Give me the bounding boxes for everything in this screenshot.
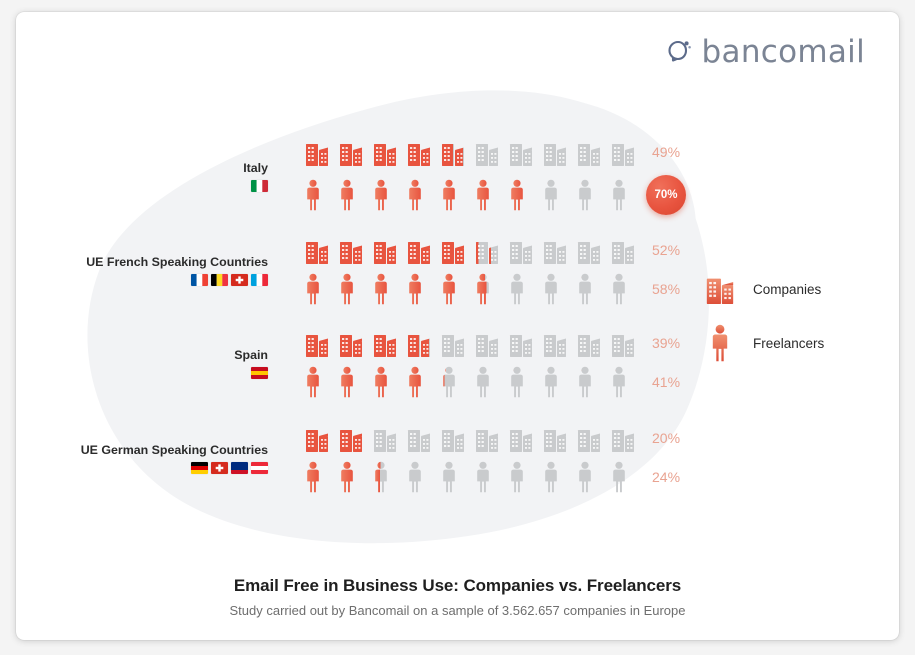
company-icon-slot [610, 235, 636, 265]
legend-item: Freelancers [703, 316, 871, 370]
company-building-icon [576, 328, 602, 358]
data-row: UE German Speaking Countries [16, 412, 899, 504]
company-building-icon [338, 235, 364, 265]
freelancer-icon-slot [474, 273, 492, 305]
freelancer-person-icon [474, 179, 492, 211]
freelancer-icon-slot [542, 273, 560, 305]
company-building-icon [304, 328, 330, 358]
company-building-icon [372, 328, 398, 358]
company-icon-slot [406, 423, 432, 453]
company-building-icon [304, 423, 330, 453]
companies-icon-line: 20% [304, 423, 899, 453]
flag-belgium [211, 274, 228, 286]
company-icon-slot [372, 137, 398, 167]
flag-switzerland [211, 462, 228, 474]
company-building-icon [338, 328, 364, 358]
company-icon-slot [406, 328, 432, 358]
freelancer-person-icon [440, 461, 458, 493]
freelancer-icon-slot [372, 179, 390, 211]
company-icon-slot [542, 235, 568, 265]
company-icon-slot [610, 328, 636, 358]
freelancer-icon-slot [406, 366, 424, 398]
company-icon-slot [304, 137, 330, 167]
company-icon-slot [508, 235, 534, 265]
country-flags [16, 462, 268, 474]
company-building-icon [542, 235, 568, 265]
country-label: UE German Speaking Countries [16, 442, 268, 459]
company-icon-slot [440, 328, 466, 358]
infographic-card: bancomail Italy [16, 12, 899, 640]
row-label-group: Spain [16, 347, 278, 380]
freelancer-person-icon [372, 179, 390, 211]
freelancer-person-icon [406, 461, 424, 493]
company-building-icon [440, 137, 466, 167]
freelancer-icon-slot [338, 461, 356, 493]
freelancer-person-icon [372, 461, 390, 493]
highlight-badge: 70% [646, 175, 686, 215]
freelancer-person-icon [576, 179, 594, 211]
freelancer-person-icon [474, 273, 492, 305]
freelancer-icon-slot [440, 366, 458, 398]
freelancer-icon-slot [576, 461, 594, 493]
company-building-icon [610, 137, 636, 167]
company-building-icon [508, 235, 534, 265]
freelancer-person-icon [304, 366, 322, 398]
freelancer-person-icon [372, 273, 390, 305]
company-building-icon [372, 137, 398, 167]
freelancer-icon-slot [610, 179, 628, 211]
company-building-icon [542, 328, 568, 358]
brand-name: bancomail [702, 34, 865, 70]
freelancer-icon-slot [440, 179, 458, 211]
company-icon-slot [338, 137, 364, 167]
freelancer-icon-slot [338, 273, 356, 305]
caption-subtitle: Study carried out by Bancomail on a samp… [16, 603, 899, 618]
freelancer-icon-slot [542, 179, 560, 211]
infographic-page: bancomail Italy [0, 0, 915, 655]
company-icon-slot [508, 137, 534, 167]
company-icon-slot [508, 423, 534, 453]
freelancer-person-icon [542, 461, 560, 493]
freelancer-icon-slot [508, 366, 526, 398]
freelancer-icon-slot [304, 461, 322, 493]
company-icon-slot [440, 137, 466, 167]
companies-percent: 52% [652, 242, 680, 258]
freelancer-icon-slot [610, 273, 628, 305]
company-icon-slot [542, 328, 568, 358]
freelancer-icon-slot [474, 366, 492, 398]
country-label: Italy [16, 160, 268, 177]
freelancer-icon-slot [338, 366, 356, 398]
freelancer-person-icon [508, 273, 526, 305]
country-label: UE French Speaking Countries [16, 254, 268, 271]
company-building-icon [304, 137, 330, 167]
freelancers-percent: 24% [652, 469, 680, 485]
freelancer-icon-slot [508, 461, 526, 493]
company-building-icon [704, 272, 736, 306]
company-icon-slot [576, 423, 602, 453]
freelancer-person-icon [703, 324, 737, 362]
freelancer-icon-slot [338, 179, 356, 211]
freelancer-person-icon [440, 273, 458, 305]
company-building-icon [406, 328, 432, 358]
legend-label: Freelancers [753, 336, 824, 351]
freelancer-icon-slot [304, 273, 322, 305]
company-building-icon [304, 235, 330, 265]
freelancer-icon-slot [576, 273, 594, 305]
legend-label: Companies [753, 282, 821, 297]
company-icon-slot [610, 137, 636, 167]
freelancer-icon-slot [304, 366, 322, 398]
freelancer-icon-slot [406, 461, 424, 493]
company-icon-slot [474, 423, 500, 453]
freelancer-person-icon [440, 366, 458, 398]
row-label-group: UE German Speaking Countries [16, 442, 278, 475]
freelancers-icon-line: 70% [304, 175, 899, 215]
country-flags [16, 180, 268, 192]
freelancer-icon-slot [610, 461, 628, 493]
freelancer-person-icon [709, 324, 731, 362]
freelancer-icon-slot [440, 461, 458, 493]
company-building-icon [440, 423, 466, 453]
company-icon-slot [338, 423, 364, 453]
company-building-icon [610, 423, 636, 453]
company-icon-slot [576, 328, 602, 358]
freelancer-person-icon [610, 179, 628, 211]
company-icon-slot [508, 328, 534, 358]
company-building-icon [338, 137, 364, 167]
company-icon-slot [372, 328, 398, 358]
freelancer-person-icon [474, 461, 492, 493]
freelancer-person-icon [338, 179, 356, 211]
freelancer-icon-slot [372, 273, 390, 305]
flag-austria [251, 462, 268, 474]
company-building-icon [576, 235, 602, 265]
freelancer-person-icon [304, 179, 322, 211]
flag-liechtenstein [231, 462, 248, 474]
company-icon-slot [406, 137, 432, 167]
row-icon-charts: 20% [278, 423, 899, 493]
freelancer-person-icon [338, 366, 356, 398]
row-label-group: UE French Speaking Countries [16, 254, 278, 287]
company-building-icon [406, 235, 432, 265]
freelancer-icon-slot [372, 366, 390, 398]
freelancer-icon-slot [372, 461, 390, 493]
company-building-icon [440, 328, 466, 358]
company-icon-slot [610, 423, 636, 453]
chart-caption: Email Free in Business Use: Companies vs… [16, 576, 899, 618]
freelancer-icon-slot [576, 179, 594, 211]
freelancer-person-icon [508, 179, 526, 211]
flag-italy [251, 180, 268, 192]
freelancer-icon-slot [406, 179, 424, 211]
company-building-icon [542, 423, 568, 453]
company-building-icon [474, 328, 500, 358]
chart-legend: Companies Freelancers [703, 262, 871, 370]
flag-germany [191, 462, 208, 474]
row-icon-charts: 49% [278, 137, 899, 215]
freelancer-person-icon [372, 366, 390, 398]
company-building-icon [474, 137, 500, 167]
country-flags [16, 367, 268, 379]
brand-logo: bancomail [664, 34, 865, 70]
freelancer-person-icon [542, 273, 560, 305]
freelancer-person-icon [610, 366, 628, 398]
freelancer-icon-slot [610, 366, 628, 398]
company-building-icon [474, 423, 500, 453]
company-icon-slot [440, 235, 466, 265]
freelancer-person-icon [338, 461, 356, 493]
company-building-icon [406, 137, 432, 167]
company-icon-slot [542, 423, 568, 453]
freelancer-icon-slot [508, 273, 526, 305]
flag-france [191, 274, 208, 286]
company-building-icon [372, 423, 398, 453]
company-icon-slot [474, 137, 500, 167]
bancomail-mark-icon [664, 38, 693, 66]
freelancer-person-icon [576, 273, 594, 305]
row-label-group: Italy [16, 160, 278, 193]
freelancers-percent: 58% [652, 281, 680, 297]
company-building-icon [610, 328, 636, 358]
company-icon-slot [576, 235, 602, 265]
freelancer-person-icon [508, 366, 526, 398]
companies-icon-line: 49% [304, 137, 899, 167]
freelancer-icon-slot [474, 461, 492, 493]
freelancer-person-icon [610, 273, 628, 305]
company-icon-slot [406, 235, 432, 265]
company-icon-slot [474, 235, 500, 265]
freelancer-person-icon [576, 461, 594, 493]
company-icon-slot [542, 137, 568, 167]
caption-title: Email Free in Business Use: Companies vs… [16, 576, 899, 596]
company-building-icon [508, 137, 534, 167]
freelancer-person-icon [338, 273, 356, 305]
freelancer-person-icon [576, 366, 594, 398]
freelancer-icon-slot [542, 461, 560, 493]
freelancer-person-icon [474, 366, 492, 398]
legend-item: Companies [703, 262, 871, 316]
companies-percent: 20% [652, 430, 680, 446]
company-icon-slot [304, 328, 330, 358]
freelancers-icon-line: 41% [304, 366, 899, 398]
company-building-icon [406, 423, 432, 453]
company-icon-slot [338, 328, 364, 358]
data-row: Italy [16, 130, 899, 222]
companies-icon-line: 52% [304, 235, 899, 265]
company-building-icon [508, 328, 534, 358]
freelancer-person-icon [610, 461, 628, 493]
freelancer-icon-slot [542, 366, 560, 398]
company-icon-slot [440, 423, 466, 453]
company-icon-slot [474, 328, 500, 358]
freelancer-person-icon [406, 366, 424, 398]
country-flags [16, 274, 268, 286]
freelancer-icon-slot [576, 366, 594, 398]
freelancer-person-icon [304, 461, 322, 493]
freelancer-icon-slot [474, 179, 492, 211]
company-icon-slot [576, 137, 602, 167]
company-building-icon [338, 423, 364, 453]
freelancer-person-icon [304, 273, 322, 305]
company-icon-slot [338, 235, 364, 265]
company-building-icon [703, 270, 737, 308]
company-building-icon [576, 423, 602, 453]
freelancer-person-icon [542, 179, 560, 211]
freelancer-person-icon [406, 273, 424, 305]
freelancer-person-icon [406, 179, 424, 211]
freelancer-icon-slot [440, 273, 458, 305]
freelancer-person-icon [440, 179, 458, 211]
flag-spain [251, 367, 268, 379]
freelancer-icon-slot [508, 179, 526, 211]
flag-luxembourg [251, 274, 268, 286]
freelancers-icon-line: 24% [304, 461, 899, 493]
country-label: Spain [16, 347, 268, 364]
freelancer-icon-slot [304, 179, 322, 211]
company-building-icon [610, 235, 636, 265]
flag-switzerland [231, 274, 248, 286]
company-icon-slot [372, 423, 398, 453]
company-building-icon [542, 137, 568, 167]
company-building-icon [372, 235, 398, 265]
company-building-icon [440, 235, 466, 265]
companies-percent: 49% [652, 144, 680, 160]
company-icon-slot [304, 235, 330, 265]
company-building-icon [576, 137, 602, 167]
freelancer-person-icon [508, 461, 526, 493]
freelancers-percent: 41% [652, 374, 680, 390]
company-building-icon [474, 235, 500, 265]
companies-percent: 39% [652, 335, 680, 351]
freelancer-icon-slot [406, 273, 424, 305]
company-icon-slot [372, 235, 398, 265]
company-building-icon [508, 423, 534, 453]
freelancer-person-icon [542, 366, 560, 398]
company-icon-slot [304, 423, 330, 453]
